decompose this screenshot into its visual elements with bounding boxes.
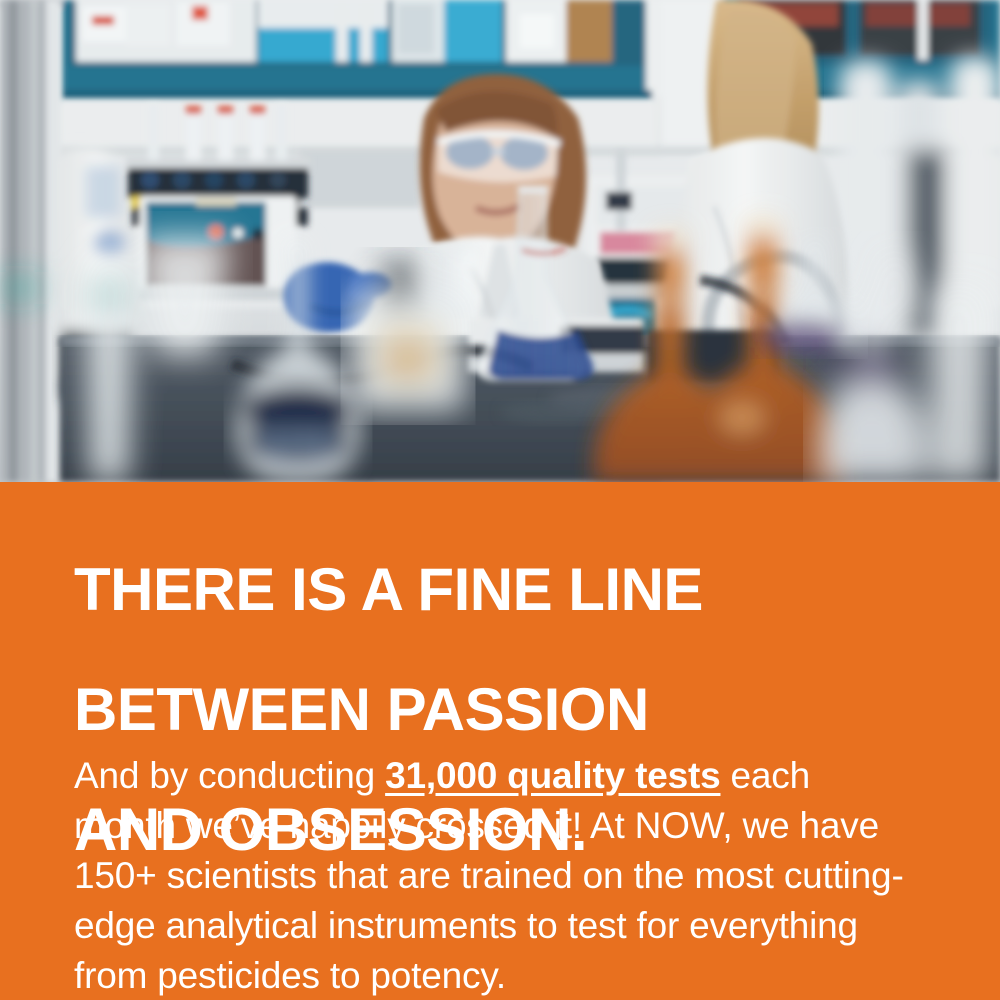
body-copy: And by conducting 31,000 quality tests e… <box>74 751 914 1000</box>
body-part-1: And by conducting <box>74 755 385 796</box>
headline-line-1: THERE IS A FINE LINE <box>74 560 954 620</box>
quality-tests-emphasis: 31,000 quality tests <box>385 755 720 796</box>
headline-line-2: BETWEEN PASSION <box>74 680 954 740</box>
poster: 500 <box>0 0 1000 1000</box>
orange-text-panel: THERE IS A FINE LINE BETWEEN PASSION AND… <box>0 482 1000 1000</box>
lab-photograph: 500 <box>0 0 1000 482</box>
